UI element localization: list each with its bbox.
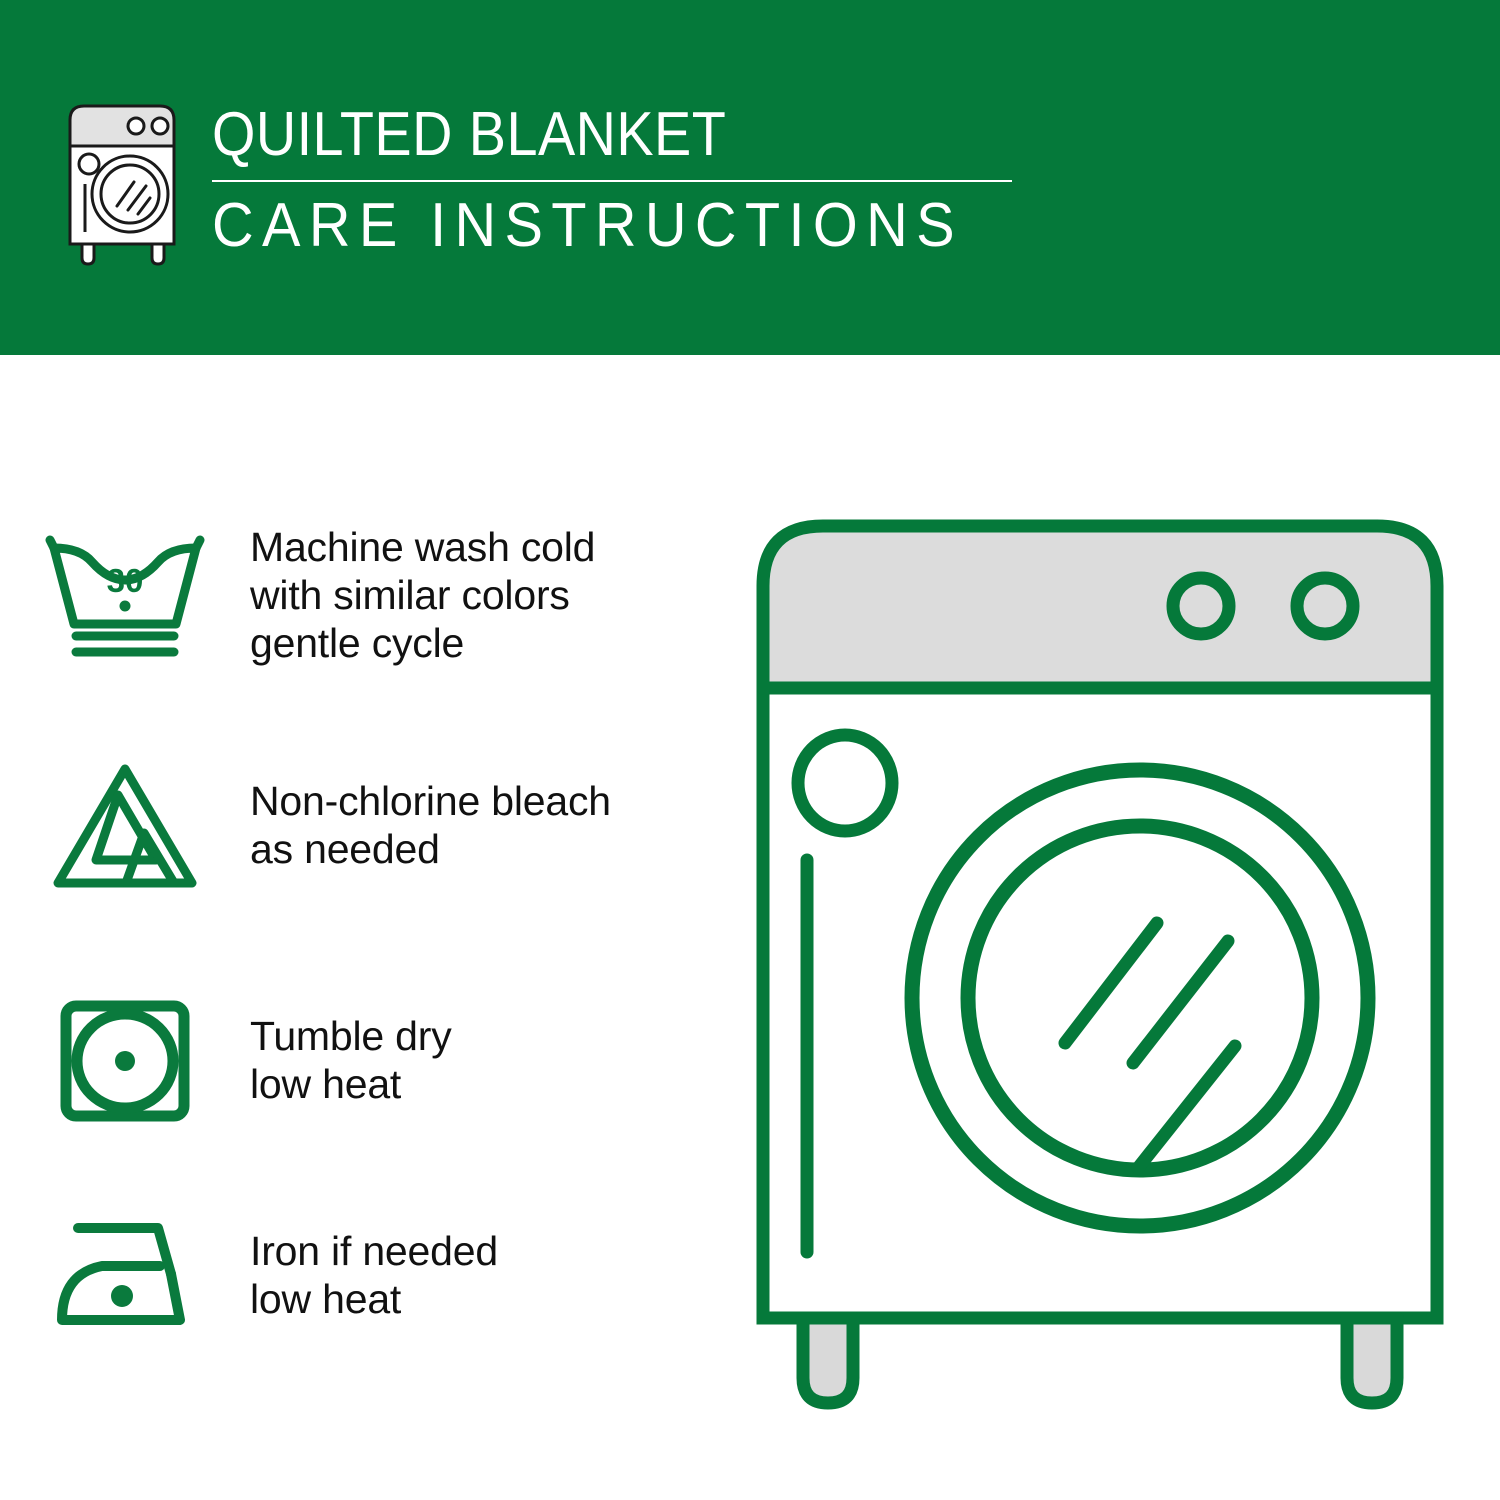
care-line: gentle cycle [250, 619, 740, 667]
non-chlorine-bleach-triangle-icon [0, 755, 250, 895]
iron-low-heat-icon [0, 1210, 250, 1340]
care-line: with similar colors [250, 571, 740, 619]
care-text-bleach: Non-chlorine bleach as needed [250, 777, 740, 873]
page-title: QUILTED BLANKET [212, 102, 939, 168]
care-line: Non-chlorine bleach [250, 777, 740, 825]
title-divider [212, 180, 1012, 182]
care-line: low heat [250, 1060, 740, 1108]
washing-machine-icon [62, 98, 192, 266]
care-line: low heat [250, 1275, 740, 1323]
care-row-iron: Iron if needed low heat [0, 1195, 740, 1355]
care-line: Machine wash cold [250, 523, 740, 571]
care-line: Iron if needed [250, 1227, 740, 1275]
care-row-bleach: Non-chlorine bleach as needed [0, 737, 740, 912]
header-content: QUILTED BLANKET CARE INSTRUCTIONS [62, 98, 1019, 266]
care-row-wash: 30 Machine wash cold with similar colors… [0, 505, 740, 685]
header-banner: QUILTED BLANKET CARE INSTRUCTIONS [0, 0, 1500, 355]
care-text-iron: Iron if needed low heat [250, 1227, 740, 1323]
tumble-dry-low-heat-icon [0, 990, 250, 1130]
care-row-tumble-dry: Tumble dry low heat [0, 977, 740, 1142]
page-subtitle: CARE INSTRUCTIONS [212, 193, 963, 259]
care-text-tumble-dry: Tumble dry low heat [250, 1012, 740, 1108]
care-text-wash: Machine wash cold with similar colors ge… [250, 523, 740, 667]
care-line: Tumble dry [250, 1012, 740, 1060]
care-line: as needed [250, 825, 740, 873]
svg-text:30: 30 [107, 562, 144, 599]
care-instruction-list: 30 Machine wash cold with similar colors… [0, 355, 740, 1500]
wash-tub-30-gentle-icon: 30 [0, 528, 250, 663]
front-load-washing-machine-illustration [745, 498, 1455, 1428]
header-title-group: QUILTED BLANKET CARE INSTRUCTIONS [212, 98, 1019, 259]
